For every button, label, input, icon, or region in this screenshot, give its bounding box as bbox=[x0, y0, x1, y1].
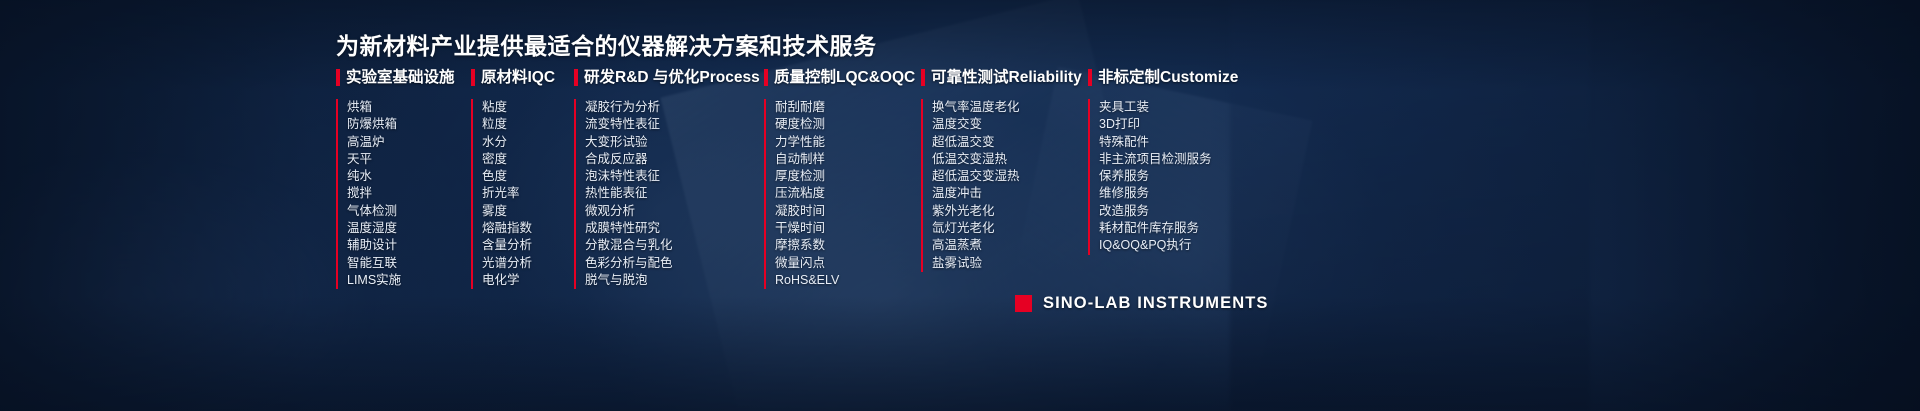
list-item[interactable]: RoHS&ELV bbox=[775, 272, 921, 289]
red-bar-icon bbox=[336, 69, 340, 86]
banner-content: 为新材料产业提供最适合的仪器解决方案和技术服务 实验室基础设施 烘箱 防爆烘箱 … bbox=[0, 0, 1920, 411]
list-item[interactable]: 超低温交变湿热 bbox=[932, 168, 1088, 185]
category-item-list: 粘度 粒度 水分 密度 色度 折光率 雾度 熔融指数 含量分析 光谱分析 电化学 bbox=[471, 99, 574, 289]
list-item[interactable]: 合成反应器 bbox=[585, 151, 764, 168]
list-item[interactable]: 维修服务 bbox=[1099, 185, 1288, 202]
category-column-lab-infrastructure: 实验室基础设施 烘箱 防爆烘箱 高温炉 天平 纯水 搅拌 气体检测 温度湿度 辅… bbox=[336, 67, 471, 289]
list-item[interactable]: 脱气与脱泡 bbox=[585, 272, 764, 289]
category-header: 研发R&D 与优化Process bbox=[574, 67, 764, 87]
red-bar-icon bbox=[1088, 69, 1092, 86]
category-column-raw-material-iqc: 原材料IQC 粘度 粒度 水分 密度 色度 折光率 雾度 熔融指数 含量分析 光… bbox=[471, 67, 574, 289]
list-item[interactable]: 厚度检测 bbox=[775, 168, 921, 185]
list-item[interactable]: 雾度 bbox=[482, 203, 574, 220]
list-item[interactable]: 成膜特性研究 bbox=[585, 220, 764, 237]
list-item[interactable]: 耐刮耐磨 bbox=[775, 99, 921, 116]
list-item[interactable]: 流变特性表征 bbox=[585, 116, 764, 133]
category-header: 非标定制Customize bbox=[1088, 67, 1288, 87]
list-item[interactable]: 纯水 bbox=[347, 168, 471, 185]
category-header: 实验室基础设施 bbox=[336, 67, 471, 87]
list-item[interactable]: 分散混合与乳化 bbox=[585, 237, 764, 254]
red-bar-icon bbox=[764, 69, 768, 86]
list-item[interactable]: 智能互联 bbox=[347, 255, 471, 272]
list-item[interactable]: 温度交变 bbox=[932, 116, 1088, 133]
list-item[interactable]: 非主流项目检测服务 bbox=[1099, 151, 1288, 168]
list-item[interactable]: 光谱分析 bbox=[482, 255, 574, 272]
category-header: 原材料IQC bbox=[471, 67, 574, 87]
list-item[interactable]: 色度 bbox=[482, 168, 574, 185]
list-item[interactable]: 辅助设计 bbox=[347, 237, 471, 254]
category-header-label: 质量控制LQC&OQC bbox=[774, 69, 915, 86]
category-header-label: 研发R&D 与优化Process bbox=[584, 69, 760, 86]
list-item[interactable]: 高温蒸煮 bbox=[932, 237, 1088, 254]
category-item-list: 耐刮耐磨 硬度检测 力学性能 自动制样 厚度检测 压流粘度 凝胶时间 干燥时间 … bbox=[764, 99, 921, 289]
list-item[interactable]: 紫外光老化 bbox=[932, 203, 1088, 220]
list-item[interactable]: 硬度检测 bbox=[775, 116, 921, 133]
category-header-label: 非标定制Customize bbox=[1098, 69, 1238, 86]
list-item[interactable]: 特殊配件 bbox=[1099, 134, 1288, 151]
category-header-label: 可靠性测试Reliability bbox=[931, 69, 1082, 86]
list-item[interactable]: 高温炉 bbox=[347, 134, 471, 151]
list-item[interactable]: LIMS实施 bbox=[347, 272, 471, 289]
list-item[interactable]: 保养服务 bbox=[1099, 168, 1288, 185]
list-item[interactable]: 超低温交变 bbox=[932, 134, 1088, 151]
category-column-rd-process: 研发R&D 与优化Process 凝胶行为分析 流变特性表征 大变形试验 合成反… bbox=[574, 67, 764, 289]
list-item[interactable]: 电化学 bbox=[482, 272, 574, 289]
list-item[interactable]: 微观分析 bbox=[585, 203, 764, 220]
list-item[interactable]: 低温交变湿热 bbox=[932, 151, 1088, 168]
brand-square-icon bbox=[1015, 295, 1032, 312]
category-header: 可靠性测试Reliability bbox=[921, 67, 1088, 87]
list-item[interactable]: 搅拌 bbox=[347, 185, 471, 202]
category-item-list: 凝胶行为分析 流变特性表征 大变形试验 合成反应器 泡沫特性表征 热性能表征 微… bbox=[574, 99, 764, 289]
category-header-label: 实验室基础设施 bbox=[346, 69, 455, 86]
list-item[interactable]: IQ&OQ&PQ执行 bbox=[1099, 237, 1288, 254]
category-item-list: 烘箱 防爆烘箱 高温炉 天平 纯水 搅拌 气体检测 温度湿度 辅助设计 智能互联… bbox=[336, 99, 471, 289]
list-item[interactable]: 力学性能 bbox=[775, 134, 921, 151]
red-bar-icon bbox=[921, 69, 925, 86]
list-item[interactable]: 色彩分析与配色 bbox=[585, 255, 764, 272]
category-item-list: 夹具工装 3D打印 特殊配件 非主流项目检测服务 保养服务 维修服务 改造服务 … bbox=[1088, 99, 1288, 255]
list-item[interactable]: 3D打印 bbox=[1099, 116, 1288, 133]
list-item[interactable]: 自动制样 bbox=[775, 151, 921, 168]
list-item[interactable]: 气体检测 bbox=[347, 203, 471, 220]
list-item[interactable]: 温度湿度 bbox=[347, 220, 471, 237]
red-bar-icon bbox=[471, 69, 475, 86]
brand-logo: SINO-LAB INSTRUMENTS bbox=[1015, 294, 1269, 313]
list-item[interactable]: 干燥时间 bbox=[775, 220, 921, 237]
list-item[interactable]: 折光率 bbox=[482, 185, 574, 202]
list-item[interactable]: 烘箱 bbox=[347, 99, 471, 116]
list-item[interactable]: 凝胶行为分析 bbox=[585, 99, 764, 116]
list-item[interactable]: 天平 bbox=[347, 151, 471, 168]
category-column-reliability: 可靠性测试Reliability 换气率温度老化 温度交变 超低温交变 低温交变… bbox=[921, 67, 1088, 289]
list-item[interactable]: 氙灯光老化 bbox=[932, 220, 1088, 237]
category-header: 质量控制LQC&OQC bbox=[764, 67, 921, 87]
category-column-quality-control: 质量控制LQC&OQC 耐刮耐磨 硬度检测 力学性能 自动制样 厚度检测 压流粘… bbox=[764, 67, 921, 289]
list-item[interactable]: 粘度 bbox=[482, 99, 574, 116]
red-bar-icon bbox=[574, 69, 578, 86]
list-item[interactable]: 夹具工装 bbox=[1099, 99, 1288, 116]
list-item[interactable]: 含量分析 bbox=[482, 237, 574, 254]
list-item[interactable]: 大变形试验 bbox=[585, 134, 764, 151]
list-item[interactable]: 摩擦系数 bbox=[775, 237, 921, 254]
category-column-customize: 非标定制Customize 夹具工装 3D打印 特殊配件 非主流项目检测服务 保… bbox=[1088, 67, 1288, 289]
page-title: 为新材料产业提供最适合的仪器解决方案和技术服务 bbox=[336, 27, 877, 61]
list-item[interactable]: 密度 bbox=[482, 151, 574, 168]
list-item[interactable]: 耗材配件库存服务 bbox=[1099, 220, 1288, 237]
list-item[interactable]: 防爆烘箱 bbox=[347, 116, 471, 133]
list-item[interactable]: 水分 bbox=[482, 134, 574, 151]
list-item[interactable]: 泡沫特性表征 bbox=[585, 168, 764, 185]
service-category-columns: 实验室基础设施 烘箱 防爆烘箱 高温炉 天平 纯水 搅拌 气体检测 温度湿度 辅… bbox=[336, 67, 1586, 289]
list-item[interactable]: 盐雾试验 bbox=[932, 255, 1088, 272]
list-item[interactable]: 改造服务 bbox=[1099, 203, 1288, 220]
category-item-list: 换气率温度老化 温度交变 超低温交变 低温交变湿热 超低温交变湿热 温度冲击 紫… bbox=[921, 99, 1088, 272]
list-item[interactable]: 粒度 bbox=[482, 116, 574, 133]
category-header-label: 原材料IQC bbox=[481, 69, 555, 86]
list-item[interactable]: 温度冲击 bbox=[932, 185, 1088, 202]
list-item[interactable]: 微量闪点 bbox=[775, 255, 921, 272]
list-item[interactable]: 压流粘度 bbox=[775, 185, 921, 202]
list-item[interactable]: 换气率温度老化 bbox=[932, 99, 1088, 116]
list-item[interactable]: 热性能表征 bbox=[585, 185, 764, 202]
list-item[interactable]: 熔融指数 bbox=[482, 220, 574, 237]
list-item[interactable]: 凝胶时间 bbox=[775, 203, 921, 220]
brand-name: SINO-LAB INSTRUMENTS bbox=[1043, 294, 1269, 313]
